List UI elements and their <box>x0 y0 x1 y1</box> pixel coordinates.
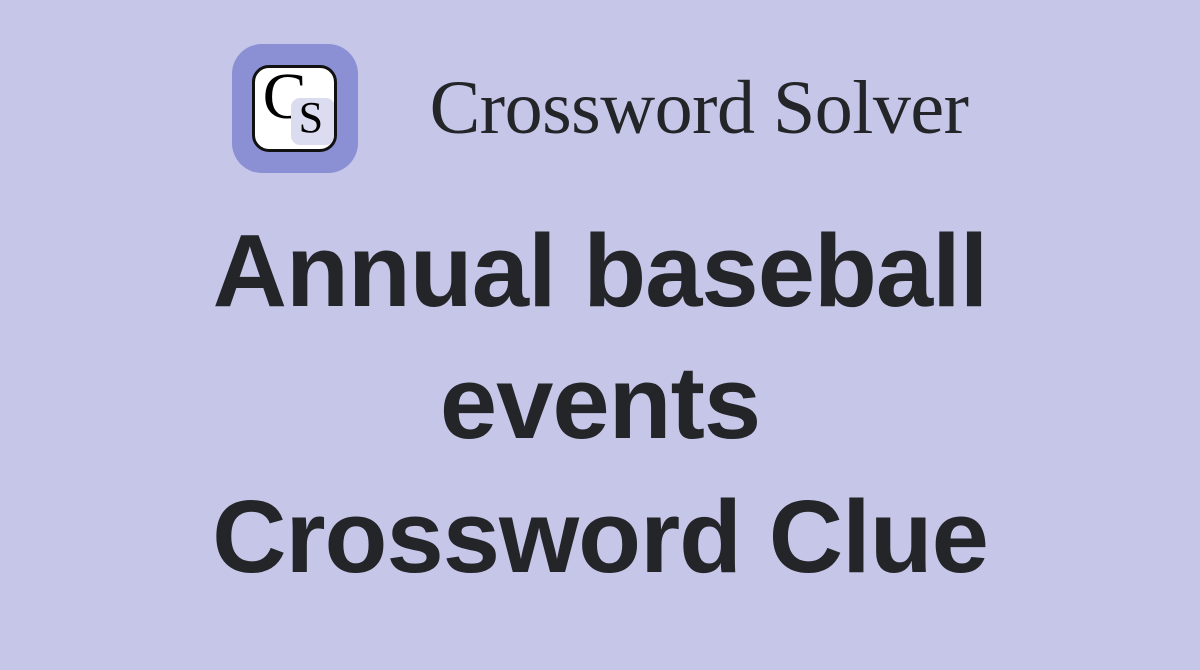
logo-letter-s: S <box>299 96 323 140</box>
page-title: Annual baseball events Crossword Clue <box>90 205 1110 602</box>
site-header: C S Crossword Solver <box>0 28 1200 188</box>
site-title[interactable]: Crossword Solver <box>430 70 969 146</box>
clue-text: Annual baseball events <box>213 213 988 460</box>
clue-suffix: Crossword Clue <box>90 471 1110 603</box>
page-root: C S Crossword Solver Annual baseball eve… <box>0 0 1200 670</box>
logo-inner-square: C S <box>252 65 337 152</box>
crossword-solver-logo-icon[interactable]: C S <box>232 44 358 173</box>
page-title-container: Annual baseball events Crossword Clue <box>0 205 1200 602</box>
